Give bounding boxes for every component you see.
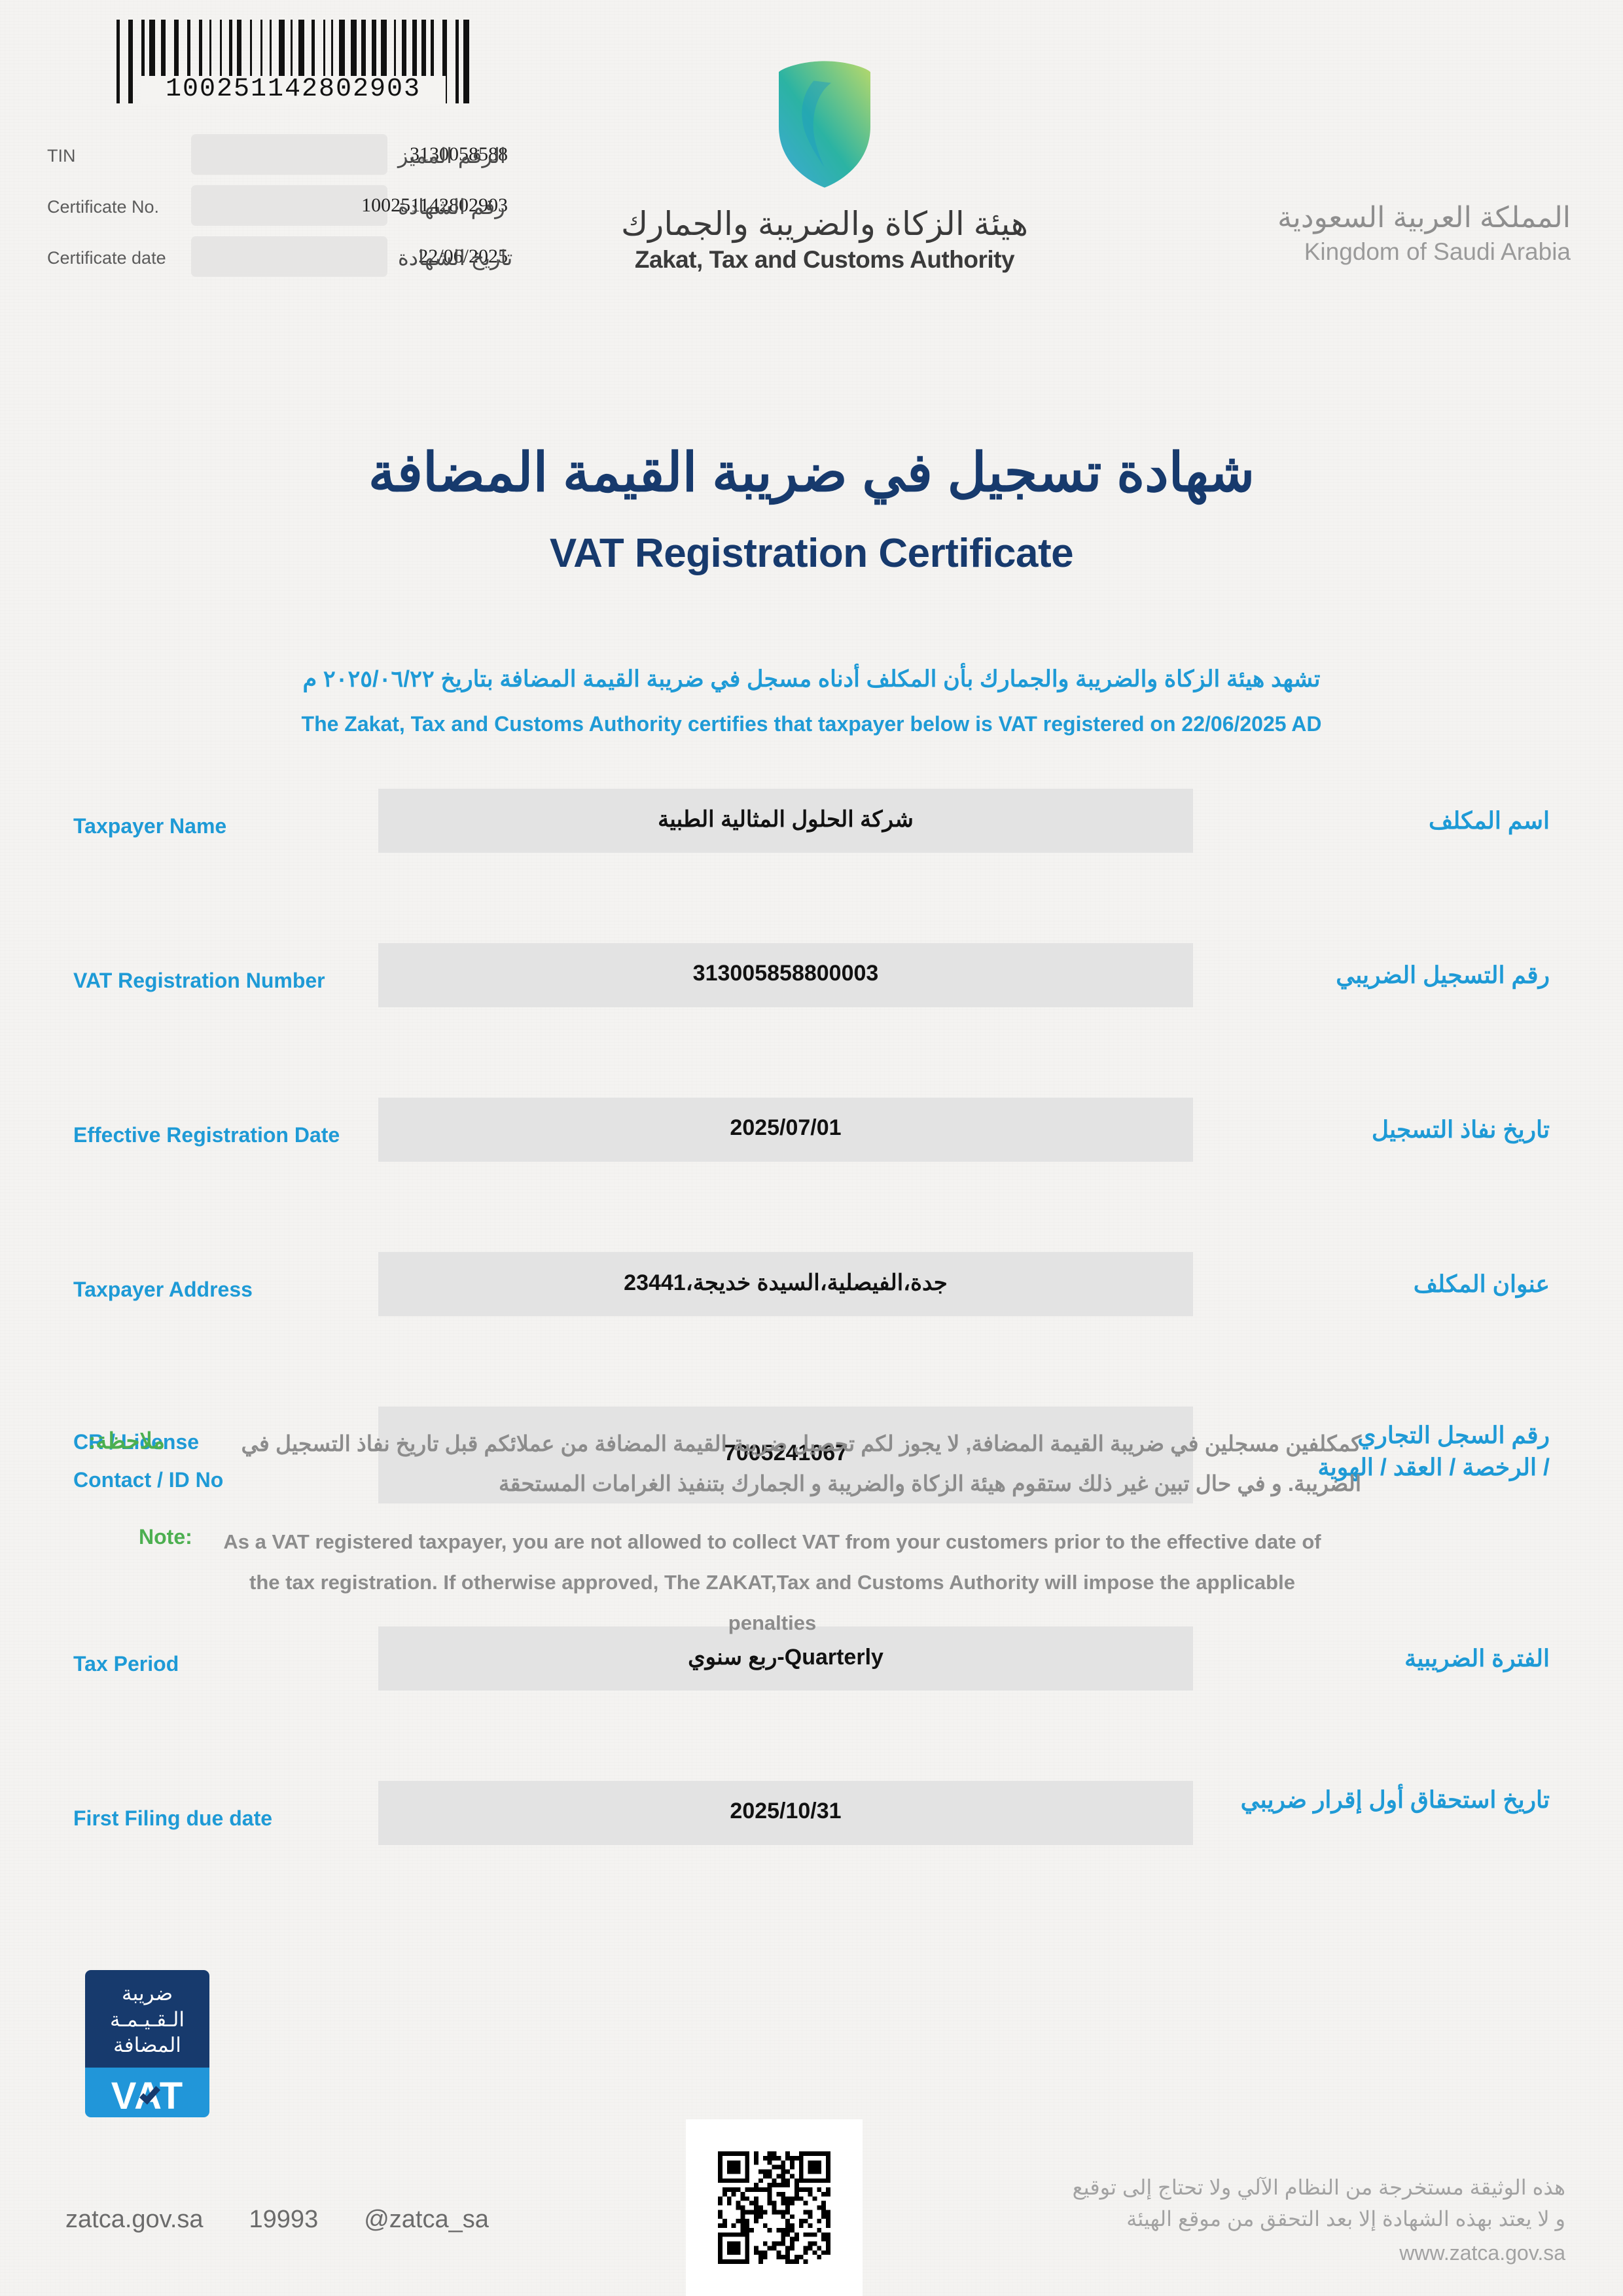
qr-code-panel	[686, 2119, 863, 2296]
authority-name-ar: هيئة الزكاة والضريبة والجمارك	[609, 204, 1041, 243]
footer-contact: zatca.gov.sa 19993 @zatca_sa	[65, 2206, 489, 2234]
id-value-box	[191, 236, 387, 277]
qr-code-icon[interactable]	[718, 2151, 830, 2264]
row-label-en: First Filing due date	[73, 1800, 361, 1838]
id-label-en: TIN	[47, 146, 76, 166]
footer-website[interactable]: zatca.gov.sa	[65, 2206, 204, 2234]
certification-statement-en: The Zakat, Tax and Customs Authority cer…	[0, 712, 1623, 736]
table-row: 2025/07/01Effective Registration Dateتار…	[0, 943, 1623, 1020]
note-body-ar: كمكلفين مسجلين في ضريبة القيمة المضافة, …	[183, 1424, 1361, 1503]
id-value-box	[191, 134, 387, 175]
vat-logo-line3: المضافة	[92, 2032, 203, 2058]
vat-logo-line2: الـقـيـمـة	[92, 2007, 203, 2033]
table-row: شركة الحلول المثالية الطبيةTaxpayer Name…	[0, 789, 1623, 866]
table-row: 7005241067CR / License Contact / ID Noرق…	[0, 1098, 1623, 1208]
zatca-logo-block: هيئة الزكاة والضريبة والجمارك Zakat, Tax…	[609, 59, 1041, 274]
table-row: 2025/10/31First Filing due dateتاريخ است…	[0, 1285, 1623, 1362]
kingdom-block: المملكة العربية السعودية Kingdom of Saud…	[1277, 200, 1571, 266]
row-value: ربع سنوي-Quarterly	[378, 1644, 1193, 1670]
footer-phone: 19993	[249, 2206, 319, 2234]
certificate-page: 100251142802903 TIN 3130058588 الرقم الم…	[0, 0, 1623, 2296]
id-label-ar: الرقم المميز	[398, 143, 506, 168]
row-value: شركة الحلول المثالية الطبية	[378, 806, 1193, 833]
row-label-en: Taxpayer Name	[73, 808, 361, 846]
row-label-en: Tax Period	[73, 1645, 361, 1683]
row-label-ar: تاريخ استحقاق أول إقرار ضريبي	[1209, 1784, 1550, 1816]
note-label-en: Note:	[139, 1525, 192, 1549]
vat-logo-acronym-block: VAT	[85, 2068, 209, 2117]
id-label-ar: تاريخ الشهادة	[398, 245, 512, 270]
table-row: 313005858800003VAT Registration Numberرق…	[0, 866, 1623, 943]
id-label-en: Certificate No.	[47, 197, 159, 217]
row-label-ar: الفترة الضريبية	[1209, 1643, 1550, 1675]
vat-logo-line1: ضريبة	[92, 1981, 203, 2007]
id-row-tin: TIN 3130058588 الرقم المميز	[39, 134, 517, 179]
shield-logo-icon	[769, 59, 880, 190]
page-title-ar: شهادة تسجيل في ضريبة القيمة المضافة	[0, 442, 1623, 504]
disclaimer-url: www.zatca.gov.sa	[1073, 2237, 1565, 2269]
id-value-box	[191, 185, 387, 226]
barcode-number: 100251142802903	[141, 76, 446, 103]
note-body-en: As a VAT registered taxpayer, you are no…	[216, 1522, 1329, 1643]
authority-name-en: Zakat, Tax and Customs Authority	[609, 246, 1041, 274]
row-label-ar: اسم المكلف	[1209, 805, 1550, 837]
kingdom-name-en: Kingdom of Saudi Arabia	[1277, 238, 1571, 266]
barcode-block: 100251142802903	[116, 20, 470, 103]
footer-social-handle[interactable]: @zatca_sa	[364, 2206, 489, 2234]
identification-table: TIN 3130058588 الرقم المميز Certificate …	[39, 134, 517, 287]
id-row-certificate-no: Certificate No. 100251142802903 رقم الشه…	[39, 185, 517, 230]
id-label-en: Certificate date	[47, 248, 166, 268]
disclaimer-line-2: و لا يعتد بهذه الشهادة إلا بعد التحقق من…	[1073, 2203, 1565, 2234]
disclaimer-line-1: هذه الوثيقة مستخرجة من النظام الآلي ولا …	[1073, 2172, 1565, 2203]
certification-statement-ar: تشهد هيئة الزكاة والضريبة والجمارك بأن ا…	[0, 666, 1623, 692]
details-table: شركة الحلول المثالية الطبيةTaxpayer Name…	[0, 789, 1623, 1362]
id-label-ar: رقم الشهادة	[398, 194, 505, 219]
kingdom-name-ar: المملكة العربية السعودية	[1277, 200, 1571, 236]
table-row: جدة،الفيصلية،السيدة خديجة،23441Taxpayer …	[0, 1020, 1623, 1098]
vat-logo-arabic-block: ضريبة الـقـيـمـة المضافة	[85, 1970, 209, 2068]
note-label-ar: ملاحظة:	[88, 1428, 165, 1454]
row-value: 2025/10/31	[378, 1799, 1193, 1824]
table-row: ربع سنوي-QuarterlyTax Periodالفترة الضري…	[0, 1208, 1623, 1285]
vat-logo: ضريبة الـقـيـمـة المضافة VAT	[85, 1970, 209, 2117]
footer-disclaimer: هذه الوثيقة مستخرجة من النظام الآلي ولا …	[1073, 2172, 1565, 2269]
page-title-en: VAT Registration Certificate	[0, 530, 1623, 577]
id-row-certificate-date: Certificate date 22/06/2025 تاريخ الشهاد…	[39, 236, 517, 281]
